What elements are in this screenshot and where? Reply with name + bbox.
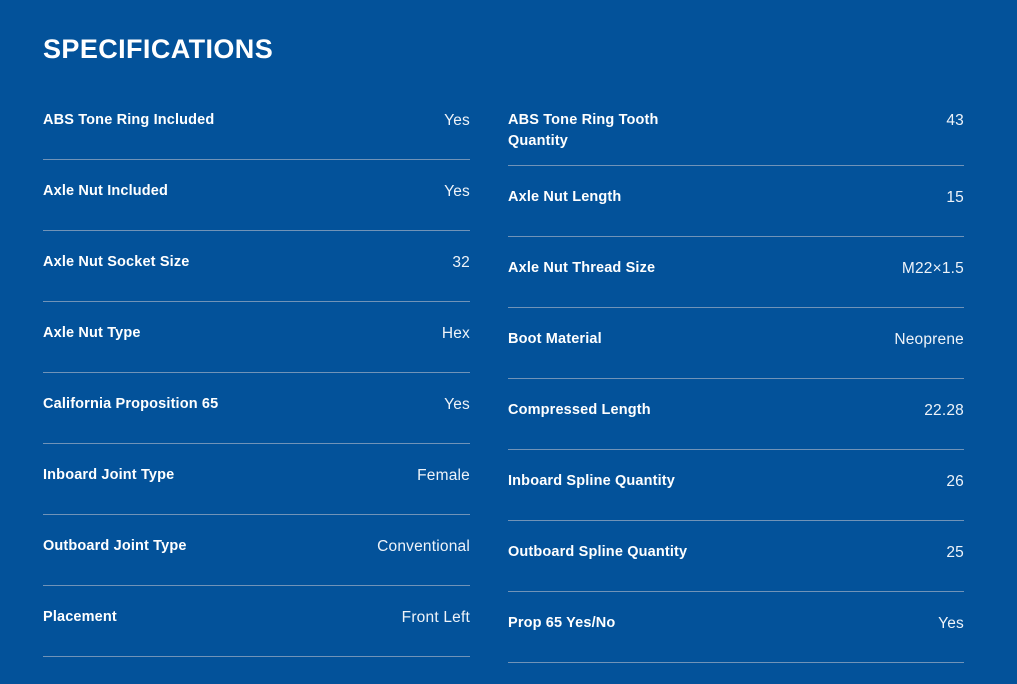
spec-row: Axle Nut Type Hex bbox=[43, 323, 470, 373]
spec-value: Yes bbox=[938, 613, 964, 634]
spec-row: Outboard Spline Quantity 25 bbox=[508, 542, 964, 592]
spec-row: Axle Nut Included Yes bbox=[43, 181, 470, 231]
spec-label: Axle Nut Socket Size bbox=[43, 252, 189, 273]
spec-value: Neoprene bbox=[894, 329, 964, 350]
spec-value: Hex bbox=[442, 323, 470, 344]
spec-row: ABS Tone Ring Included Yes bbox=[43, 110, 470, 160]
spec-label: Prop 65 Yes/No bbox=[508, 613, 615, 634]
spec-row: ABS Tone Ring Tooth Quantity 43 bbox=[508, 110, 964, 166]
spec-value: Yes bbox=[444, 394, 470, 415]
spec-label: Axle Nut Included bbox=[43, 181, 168, 202]
spec-label: Compressed Length bbox=[508, 400, 651, 421]
spec-value: M22×1.5 bbox=[902, 258, 964, 279]
spec-row: Compressed Length 22.28 bbox=[508, 400, 964, 450]
spec-row: Boot Material Neoprene bbox=[508, 329, 964, 379]
spec-value: Yes bbox=[444, 110, 470, 131]
spec-label: Axle Nut Thread Size bbox=[508, 258, 655, 279]
spec-value: 32 bbox=[452, 252, 470, 273]
specifications-section: SPECIFICATIONS ABS Tone Ring Included Ye… bbox=[0, 0, 1017, 617]
spec-label: ABS Tone Ring Included bbox=[43, 110, 214, 131]
spec-value: 26 bbox=[946, 471, 964, 492]
spec-label: Inboard Spline Quantity bbox=[508, 471, 675, 492]
specifications-column-left: ABS Tone Ring Included Yes Axle Nut Incl… bbox=[0, 110, 470, 678]
spec-row: Inboard Spline Quantity 26 bbox=[508, 471, 964, 521]
spec-row: California Proposition 65 Yes bbox=[43, 394, 470, 444]
spec-row: Outboard Joint Type Conventional bbox=[43, 536, 470, 586]
spec-label: Placement bbox=[43, 607, 117, 628]
spec-row: Axle Nut Socket Size 32 bbox=[43, 252, 470, 302]
specifications-columns: ABS Tone Ring Included Yes Axle Nut Incl… bbox=[0, 110, 1017, 684]
spec-row: Axle Nut Thread Size M22×1.5 bbox=[508, 258, 964, 308]
spec-label: California Proposition 65 bbox=[43, 394, 218, 415]
spec-value: 43 bbox=[946, 110, 964, 131]
spec-label: Outboard Joint Type bbox=[43, 536, 187, 557]
spec-value: Female bbox=[417, 465, 470, 486]
spec-value: Front Left bbox=[402, 607, 470, 628]
spec-value: Yes bbox=[444, 181, 470, 202]
spec-row: Inboard Joint Type Female bbox=[43, 465, 470, 515]
spec-label: Axle Nut Type bbox=[43, 323, 141, 344]
spec-row: Axle Nut Length 15 bbox=[508, 187, 964, 237]
spec-value: 22.28 bbox=[924, 400, 964, 421]
spec-value: 25 bbox=[946, 542, 964, 563]
spec-row: Placement Front Left bbox=[43, 607, 470, 657]
spec-label: ABS Tone Ring Tooth Quantity bbox=[508, 110, 688, 152]
spec-value: Conventional bbox=[377, 536, 470, 557]
page-title: SPECIFICATIONS bbox=[43, 33, 273, 65]
spec-value: 15 bbox=[946, 187, 964, 208]
spec-label: Boot Material bbox=[508, 329, 602, 350]
specifications-column-right: ABS Tone Ring Tooth Quantity 43 Axle Nut… bbox=[470, 110, 1017, 684]
spec-label: Outboard Spline Quantity bbox=[508, 542, 687, 563]
spec-row: Prop 65 Yes/No Yes bbox=[508, 613, 964, 663]
spec-label: Inboard Joint Type bbox=[43, 465, 174, 486]
spec-label: Axle Nut Length bbox=[508, 187, 621, 208]
